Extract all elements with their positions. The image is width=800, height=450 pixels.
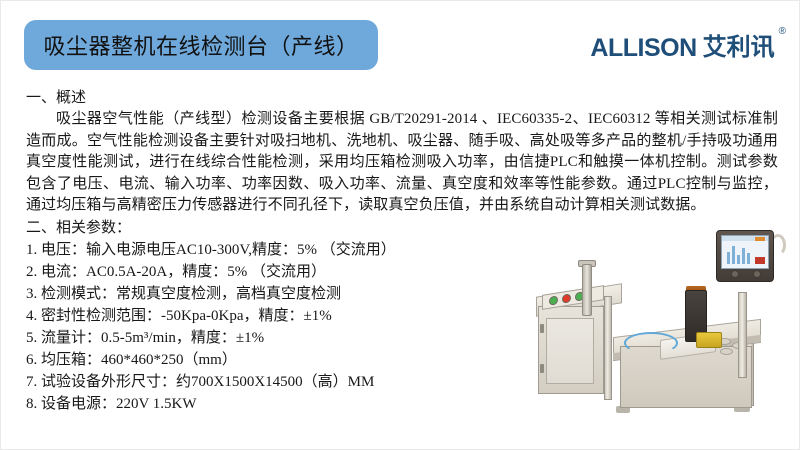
slide-page: 吸尘器整机在线检测台（产线） ALLISON 艾利讯 ® 一、概述 吸尘器空气性… [0, 0, 800, 450]
hmi-knob-right[interactable] [753, 270, 761, 278]
machine-orifice-3 [720, 348, 733, 355]
machine-blue-hose [624, 332, 678, 354]
overview-paragraph: 吸尘器空气性能（产线型）检测设备主要根据 GB/T20291-2014 、IEC… [26, 109, 778, 217]
brand-logo: ALLISON 艾利讯 ® [590, 36, 786, 61]
machine-hmi-pole [738, 292, 747, 378]
parameter-item-test-mode: 3. 检测模式：常规真空度检测，高档真空度检测 [26, 283, 526, 305]
parameter-item-sealing-range: 4. 密封性检测范围：-50Kpa-0Kpa，精度：±1% [26, 305, 526, 327]
parameter-item-dimensions: 7. 试验设备外形尺寸：约700X1500X14500（高）MM [26, 371, 526, 393]
hmi-knob-left[interactable] [731, 270, 739, 278]
hmi-chart-bar-5 [747, 253, 750, 264]
machine-door-handle-lower [540, 364, 544, 373]
registered-trademark-icon: ® [779, 27, 786, 37]
parameter-item-flow-meter: 5. 流量计：0.5-5m³/min，精度：±1% [26, 327, 526, 349]
parameter-item-power-supply: 8. 设备电源：220V 1.5KW [26, 393, 526, 415]
parameter-item-voltage: 1. 电压：输入电源电压AC10-300V,精度：5% （交流用） [26, 239, 526, 261]
parameters-list: 1. 电压：输入电源电压AC10-300V,精度：5% （交流用） 2. 电流：… [26, 239, 526, 415]
hmi-alarm-indicator [755, 257, 765, 264]
brand-name-en: ALLISON [590, 36, 696, 61]
machine-hmi-screen[interactable] [721, 235, 769, 269]
hmi-chart-bar-1 [727, 252, 730, 264]
machine-door-handle-upper [540, 324, 544, 333]
hmi-chart-bar-2 [732, 246, 735, 264]
parameter-item-current: 2. 电流：AC0.5A-20A，精度：5% （交流用） [26, 261, 526, 283]
page-title: 吸尘器整机在线检测台（产线） [43, 29, 358, 61]
machine-sample-dust-cup [696, 332, 722, 348]
machine-left-cabinet-door [546, 318, 594, 384]
panel-button-red-stop[interactable] [562, 293, 571, 303]
hmi-status-indicator [755, 237, 765, 241]
parameter-item-plenum-box: 6. 均压箱：460*460*250（mm） [26, 349, 526, 371]
brand-name-cn: 艾利讯 [703, 36, 775, 60]
panel-button-green-left[interactable] [549, 295, 558, 305]
machine-pneumatic-cylinder [582, 264, 592, 316]
page-title-badge: 吸尘器整机在线检测台（产线） [24, 20, 378, 70]
hmi-chart-bar-4 [742, 248, 745, 264]
machine-photo [520, 228, 796, 446]
machine-frame-post-left [604, 296, 612, 400]
hmi-chart-bar-3 [737, 255, 740, 264]
overview-heading: 一、概述 [26, 88, 778, 109]
